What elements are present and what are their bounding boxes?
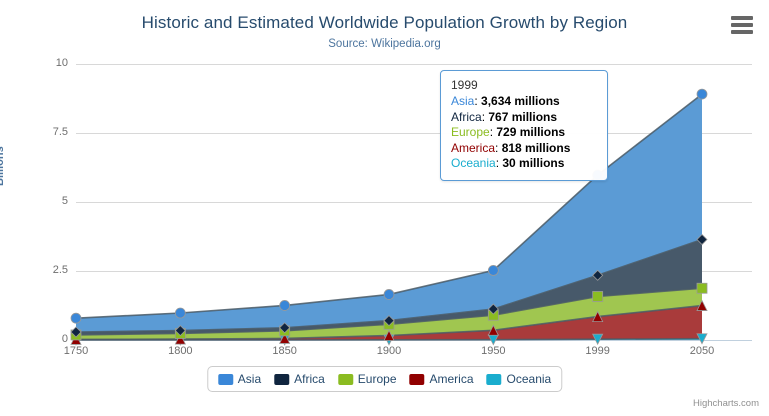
tooltip-row: Europe: 729 millions [451, 125, 598, 141]
x-axis-tick-label: 2050 [672, 345, 732, 357]
tooltip-series-value: 818 millions [502, 141, 571, 155]
legend-item-oceania[interactable]: Oceania [487, 372, 552, 386]
tooltip-series-value: 729 millions [496, 125, 565, 139]
tooltip-series-name: Oceania [451, 156, 496, 170]
x-axis-tick-label: 1900 [359, 345, 419, 357]
tooltip-series-name: America [451, 141, 495, 155]
point-marker-europe[interactable] [71, 330, 81, 340]
gridline [76, 133, 752, 134]
point-marker-asia[interactable] [175, 308, 185, 318]
highcharts-container: Historic and Estimated Worldwide Populat… [0, 0, 769, 416]
menu-bar-3 [731, 30, 753, 34]
x-axis-tick-label: 1850 [255, 345, 315, 357]
tooltip-series-value: 3,634 millions [481, 94, 560, 108]
tooltip-row: Africa: 767 millions [451, 110, 598, 126]
point-marker-oceania[interactable] [697, 334, 707, 344]
area-africa [76, 240, 702, 335]
point-marker-america[interactable] [593, 312, 603, 322]
area-europe [76, 288, 702, 339]
legend-item-asia[interactable]: Asia [218, 372, 261, 386]
tooltip-row: Asia: 3,634 millions [451, 94, 598, 110]
point-marker-europe[interactable] [488, 310, 498, 320]
point-marker-europe[interactable] [280, 326, 290, 336]
chart-subtitle: Source: Wikipedia.org [0, 38, 769, 50]
point-marker-europe[interactable] [593, 291, 603, 301]
tooltip-header: 1999 [451, 78, 598, 92]
legend-label: Asia [238, 372, 261, 386]
legend-item-america[interactable]: America [410, 372, 474, 386]
point-marker-europe[interactable] [175, 328, 185, 338]
line-america [76, 306, 702, 340]
y-axis-tick-label: 0 [8, 333, 68, 345]
point-marker-america[interactable] [488, 325, 498, 335]
line-africa [76, 240, 702, 333]
point-marker-asia[interactable] [384, 289, 394, 299]
tooltip-rows: Asia: 3,634 millionsAfrica: 767 millions… [451, 94, 598, 172]
y-axis-tick-label: 10 [8, 57, 68, 69]
legend-swatch-africa [274, 374, 289, 385]
x-axis-tick-label: 1800 [150, 345, 210, 357]
highcharts-credit[interactable]: Highcharts.com [693, 398, 759, 409]
point-marker-asia[interactable] [697, 89, 707, 99]
tooltip-row: America: 818 millions [451, 141, 598, 157]
legend-swatch-asia [218, 374, 233, 385]
legend-label: Europe [358, 372, 397, 386]
tooltip: 1999 Asia: 3,634 millionsAfrica: 767 mil… [440, 70, 608, 181]
legend-label: Africa [294, 372, 325, 386]
legend-item-europe[interactable]: Europe [338, 372, 397, 386]
y-axis-tick-label: 7.5 [8, 126, 68, 138]
y-axis-tick-label: 2.5 [8, 264, 68, 276]
point-marker-africa[interactable] [384, 316, 394, 326]
gridline [76, 202, 752, 203]
point-marker-africa[interactable] [280, 323, 290, 333]
y-axis-tick-label: 5 [8, 195, 68, 207]
legend-item-africa[interactable]: Africa [274, 372, 325, 386]
point-marker-europe[interactable] [697, 283, 707, 293]
tooltip-series-name: Africa [451, 110, 482, 124]
area-asia [76, 94, 702, 332]
menu-bar-2 [731, 23, 753, 27]
point-marker-africa[interactable] [697, 235, 707, 245]
point-marker-africa[interactable] [488, 304, 498, 314]
legend-swatch-america [410, 374, 425, 385]
legend-swatch-europe [338, 374, 353, 385]
point-marker-asia[interactable] [280, 300, 290, 310]
gridline [76, 64, 752, 65]
page-title: Historic and Estimated Worldwide Populat… [0, 13, 769, 33]
line-asia [76, 94, 702, 318]
tooltip-series-name: Europe [451, 125, 490, 139]
tooltip-series-value: 30 millions [502, 156, 564, 170]
point-marker-africa[interactable] [175, 326, 185, 336]
point-marker-asia[interactable] [71, 313, 81, 323]
chart-legend: AsiaAfricaEuropeAmericaOceania [207, 366, 562, 392]
tooltip-separator: : [495, 141, 502, 155]
x-axis-tick-label: 1750 [46, 345, 106, 357]
x-axis-tick-label: 1999 [568, 345, 628, 357]
gridline [76, 271, 752, 272]
hamburger-menu-icon[interactable] [731, 16, 753, 34]
point-marker-america[interactable] [280, 333, 290, 343]
legend-label: America [430, 372, 474, 386]
tooltip-series-value: 767 millions [488, 110, 557, 124]
y-axis-title: Billions [0, 146, 6, 186]
x-axis-tick-label: 1950 [463, 345, 523, 357]
point-marker-europe[interactable] [384, 319, 394, 329]
x-axis-line [76, 340, 752, 341]
legend-label: Oceania [507, 372, 552, 386]
point-marker-america[interactable] [697, 301, 707, 311]
legend-swatch-oceania [487, 374, 502, 385]
point-marker-africa[interactable] [71, 327, 81, 337]
tooltip-row: Oceania: 30 millions [451, 156, 598, 172]
tooltip-separator: : [474, 94, 481, 108]
line-europe [76, 288, 702, 335]
area-america [76, 306, 702, 340]
tooltip-series-name: Asia [451, 94, 474, 108]
menu-bar-1 [731, 16, 753, 20]
